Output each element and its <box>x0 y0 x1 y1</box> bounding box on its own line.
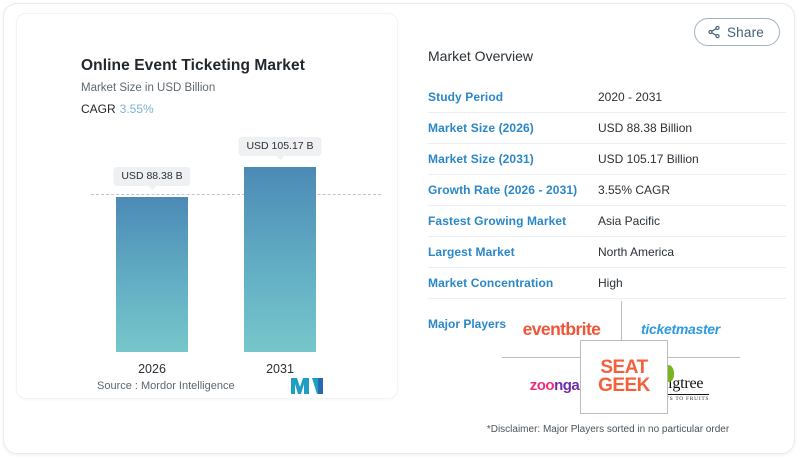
overview-key: Market Concentration <box>428 276 598 290</box>
overview-key: Market Size (2031) <box>428 152 598 166</box>
overview-key: Fastest Growing Market <box>428 214 598 228</box>
overview-row-growth-rate: Growth Rate (2026 - 2031) 3.55% CAGR <box>428 175 786 206</box>
overview-value: North America <box>598 245 674 259</box>
reference-dashed-line <box>91 194 381 195</box>
overview-key: Study Period <box>428 90 598 104</box>
eventbrite-logo: eventbrite <box>523 319 601 340</box>
overview-row-market-size-2031: Market Size (2031) USD 105.17 Billion <box>428 144 786 175</box>
cagr-value: 3.55% <box>120 102 154 116</box>
overview-key: Largest Market <box>428 245 598 259</box>
overview-value: USD 88.38 Billion <box>598 121 692 135</box>
chart-title: Online Event Ticketing Market <box>81 57 305 75</box>
share-nodes-icon <box>707 25 721 39</box>
overview-row-largest-market: Largest Market North America <box>428 237 786 268</box>
bar-chart-plot-area: USD 88.38 B USD 105.17 B <box>29 124 387 352</box>
overview-title: Market Overview <box>428 48 786 64</box>
seatgeek-logo: SEAT GEEK <box>598 359 650 395</box>
overview-key: Growth Rate (2026 - 2031) <box>428 183 598 197</box>
share-button-label: Share <box>727 25 764 40</box>
overview-value: 2020 - 2031 <box>598 90 662 104</box>
overview-row-fastest-growing-market: Fastest Growing Market Asia Pacific <box>428 206 786 237</box>
chart-subtitle: Market Size in USD Billion <box>81 82 215 94</box>
cagr-label: CAGR <box>81 102 116 116</box>
overview-row-market-size-2026: Market Size (2026) USD 88.38 Billion <box>428 113 786 144</box>
overview-key: Market Size (2026) <box>428 121 598 135</box>
x-axis-tick-2026: 2026 <box>138 362 166 376</box>
major-players-disclaimer: *Disclaimer: Major Players sorted in no … <box>428 424 788 435</box>
ticketmaster-logo: ticketmaster <box>641 321 720 337</box>
market-summary-card: Share Online Event Ticketing Market Mark… <box>3 3 795 454</box>
bar-value-label-2026: USD 88.38 B <box>113 167 190 186</box>
overview-value: 3.55% CAGR <box>598 183 670 197</box>
market-overview-panel: Market Overview Study Period 2020 - 2031… <box>428 48 786 331</box>
seatgeek-logo-line2: GEEK <box>598 377 650 395</box>
overview-value: USD 105.17 Billion <box>598 152 699 166</box>
x-axis-tick-2031: 2031 <box>266 362 294 376</box>
chart-panel: Online Event Ticketing Market Market Siz… <box>16 13 398 399</box>
chart-cagr: CAGR3.55% <box>81 102 154 116</box>
bar-value-label-2031: USD 105.17 B <box>238 137 321 156</box>
chart-source-label: Source : Mordor Intelligence <box>97 380 235 392</box>
bar-2026[interactable] <box>116 197 188 352</box>
overview-value: Asia Pacific <box>598 214 660 228</box>
bar-2031[interactable] <box>244 167 316 352</box>
share-button[interactable]: Share <box>694 18 780 46</box>
player-cell-seatgeek[interactable]: SEAT GEEK <box>580 340 668 414</box>
overview-value: High <box>598 276 623 290</box>
overview-row-study-period: Study Period 2020 - 2031 <box>428 82 786 113</box>
mordor-intelligence-logo <box>289 376 325 396</box>
overview-row-market-concentration: Market Concentration High <box>428 268 786 299</box>
